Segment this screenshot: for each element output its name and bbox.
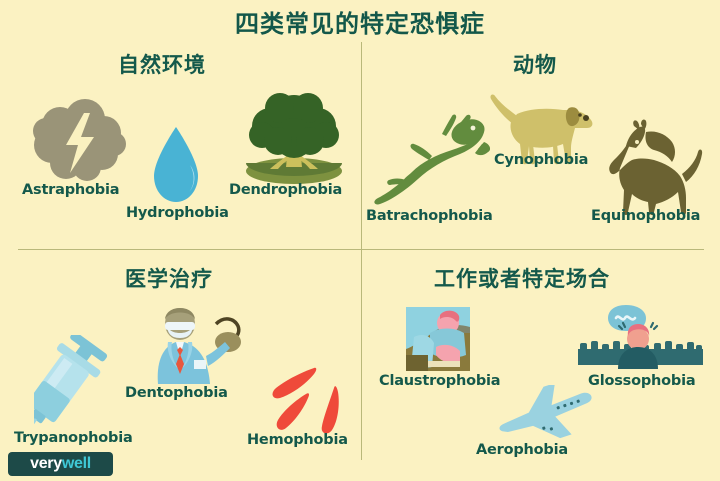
water-drop-icon bbox=[150, 125, 202, 210]
quadrant-title-work-or-specific-situations: 工作或者特定场合 bbox=[434, 263, 610, 293]
logo-text-very: very bbox=[30, 455, 62, 473]
logo-text-well: well bbox=[62, 455, 91, 473]
label-cynophobia: Cynophobia bbox=[494, 152, 588, 168]
cramped-space-photo-icon bbox=[406, 307, 470, 376]
quadrant-title-animals: 动物 bbox=[513, 49, 557, 79]
vertical-divider bbox=[361, 42, 362, 460]
public-speaking-icon bbox=[578, 303, 703, 374]
storm-cloud-lightning-icon bbox=[30, 97, 130, 190]
label-trypanophobia: Trypanophobia bbox=[14, 430, 133, 446]
quadrant-title-medical-treatment: 医学治疗 bbox=[125, 263, 213, 293]
dentist-icon bbox=[128, 308, 246, 389]
label-batrachophobia: Batrachophobia bbox=[366, 208, 493, 224]
label-hemophobia: Hemophobia bbox=[247, 432, 348, 448]
label-dendrophobia: Dendrophobia bbox=[229, 182, 342, 198]
lizard-icon bbox=[372, 110, 490, 213]
infographic-poster: 四类常见的特定恐惧症 自然环境 Astraphobia Hydrophobia bbox=[0, 0, 720, 481]
page-title: 四类常见的特定恐惧症 bbox=[0, 4, 720, 39]
label-equinophobia: Equinophobia bbox=[591, 208, 700, 224]
label-dentophobia: Dentophobia bbox=[125, 385, 228, 401]
quadrant-title-natural-environment: 自然环境 bbox=[118, 49, 206, 79]
label-astraphobia: Astraphobia bbox=[22, 182, 119, 198]
label-aerophobia: Aerophobia bbox=[476, 442, 568, 458]
label-claustrophobia: Claustrophobia bbox=[379, 373, 500, 389]
verywell-logo[interactable]: verywell bbox=[8, 452, 113, 476]
tree-icon bbox=[240, 93, 348, 190]
horizontal-divider bbox=[18, 249, 704, 250]
label-glossophobia: Glossophobia bbox=[588, 373, 695, 389]
label-hydrophobia: Hydrophobia bbox=[126, 205, 229, 221]
